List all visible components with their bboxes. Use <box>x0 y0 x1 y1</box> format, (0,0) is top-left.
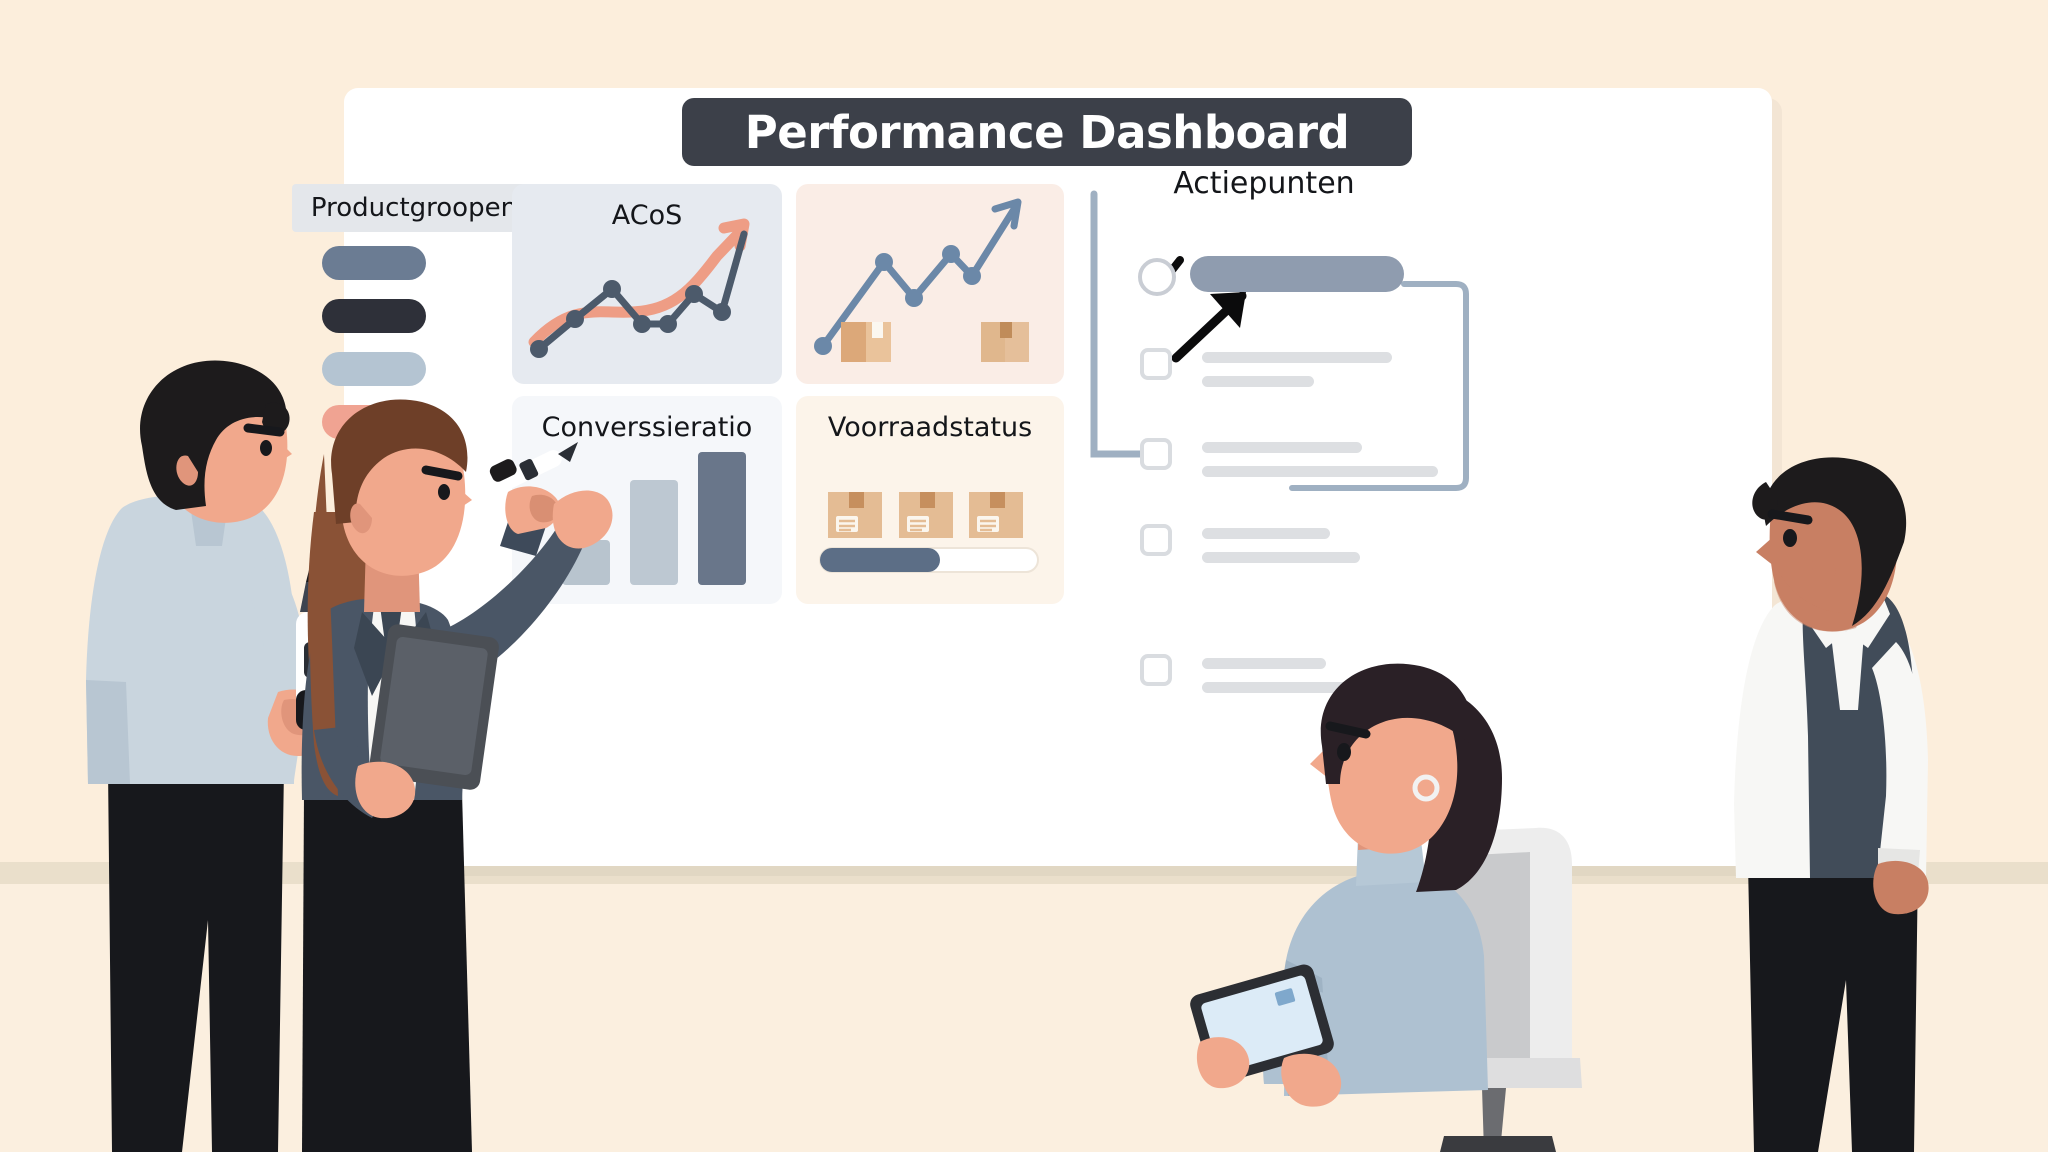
checklist-item-line <box>1202 552 1360 563</box>
checklist-connectors <box>1084 166 1524 636</box>
box-icon <box>899 492 953 538</box>
action-items-checklist: Actiepunten <box>1084 166 1524 636</box>
box-icon <box>841 322 891 362</box>
bar <box>698 452 746 585</box>
person-woman-presenter <box>262 400 682 1152</box>
checkbox-checked[interactable] <box>1138 258 1176 296</box>
checkbox-unchecked[interactable] <box>1140 654 1172 686</box>
box-icon <box>969 492 1023 538</box>
person-woman-seated <box>1230 660 1650 1152</box>
trend-line-chart <box>796 184 1064 384</box>
box-icon <box>828 492 882 538</box>
person-man-right <box>1700 460 2000 1152</box>
checklist-item-line <box>1202 528 1330 539</box>
card-trend[interactable] <box>796 184 1064 384</box>
card-acos[interactable]: ACoS <box>512 184 782 384</box>
progress-fill <box>820 548 940 572</box>
product-groups-header: Productgroopen <box>292 184 536 232</box>
checklist-item-line <box>1202 442 1362 453</box>
checklist-item-pill <box>1190 256 1404 292</box>
card-voorraadstatus-title: Voorraadstatus <box>796 412 1064 443</box>
checkbox-unchecked[interactable] <box>1140 348 1172 380</box>
checkbox-unchecked[interactable] <box>1140 524 1172 556</box>
card-voorraadstatus[interactable]: Voorraadstatus <box>796 396 1064 604</box>
product-group-pill[interactable] <box>322 299 426 333</box>
page-title: Performance Dashboard <box>745 106 1349 159</box>
card-acos-title: ACoS <box>512 200 782 231</box>
product-group-pill[interactable] <box>322 246 426 280</box>
checklist-item-line <box>1202 352 1392 363</box>
product-groups-label: Productgroopen <box>311 193 517 223</box>
checkbox-unchecked[interactable] <box>1140 438 1172 470</box>
illustration-scene: Performance Dashboard Productgroopen ACo… <box>0 0 2048 1152</box>
checklist-item-line <box>1202 466 1438 477</box>
box-icon <box>981 322 1029 362</box>
dashboard-title-banner: Performance Dashboard <box>682 98 1412 166</box>
checklist-item-line <box>1202 376 1314 387</box>
pointer-arrow-icon <box>1176 292 1246 358</box>
